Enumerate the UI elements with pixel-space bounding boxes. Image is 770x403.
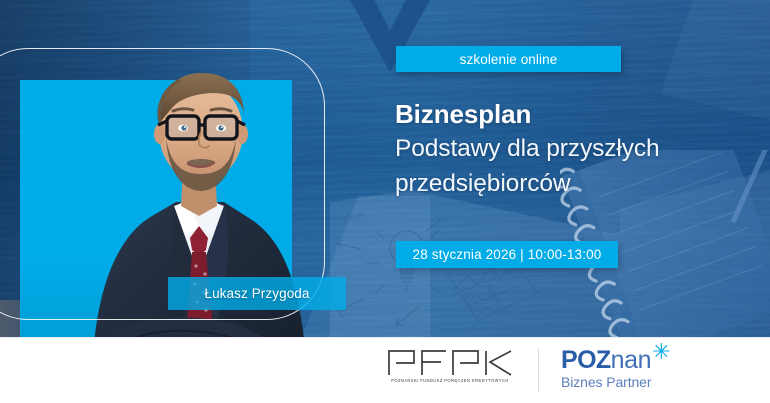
speaker-name-label: Łukasz Przygoda	[204, 286, 309, 301]
sketch-label-idea: IDEA	[342, 210, 365, 225]
event-banner: IDEA Business PLAN	[0, 0, 770, 403]
poznan-logo: POZ nan ✳ Biznes Partner	[561, 347, 693, 393]
title-sub-line-2: przedsiębiorców	[395, 166, 767, 201]
title-main: Biznesplan	[395, 98, 767, 131]
page-title: Biznesplan Podstawy dla przyszłych przed…	[395, 98, 767, 201]
online-training-badge: szkolenie online	[396, 46, 621, 72]
date-time-label: 28 stycznia 2026 | 10:00-13:00	[413, 247, 602, 262]
poznan-nan-text: nan	[611, 347, 652, 373]
poznan-wordmark: POZ nan ✳	[561, 347, 693, 373]
pfpk-wordmark-icon	[386, 348, 514, 376]
title-sub-line-1: Podstawy dla przyszłych	[395, 131, 767, 166]
poznan-subtitle: Biznes Partner	[561, 374, 693, 390]
pfpk-logo: POZNAŃSKI FUNDUSZ PORĘCZEŃ KREDYTOWYCH	[386, 348, 514, 392]
asterisk-icon: ✳	[652, 344, 670, 360]
pfpk-tagline: POZNAŃSKI FUNDUSZ PORĘCZEŃ KREDYTOWYCH	[386, 378, 514, 383]
banner-content: szkolenie online Biznesplan Podstawy dla…	[393, 0, 770, 340]
date-time-badge: 28 stycznia 2026 | 10:00-13:00	[396, 241, 618, 268]
logo-row: POZNAŃSKI FUNDUSZ PORĘCZEŃ KREDYTOWYCH P…	[380, 337, 710, 403]
logo-divider	[538, 348, 539, 392]
online-training-label: szkolenie online	[460, 52, 558, 67]
speaker-nameplate: Łukasz Przygoda	[168, 277, 346, 310]
footer-bar: POZNAŃSKI FUNDUSZ PORĘCZEŃ KREDYTOWYCH P…	[0, 337, 770, 403]
poznan-poz-text: POZ	[561, 347, 611, 373]
